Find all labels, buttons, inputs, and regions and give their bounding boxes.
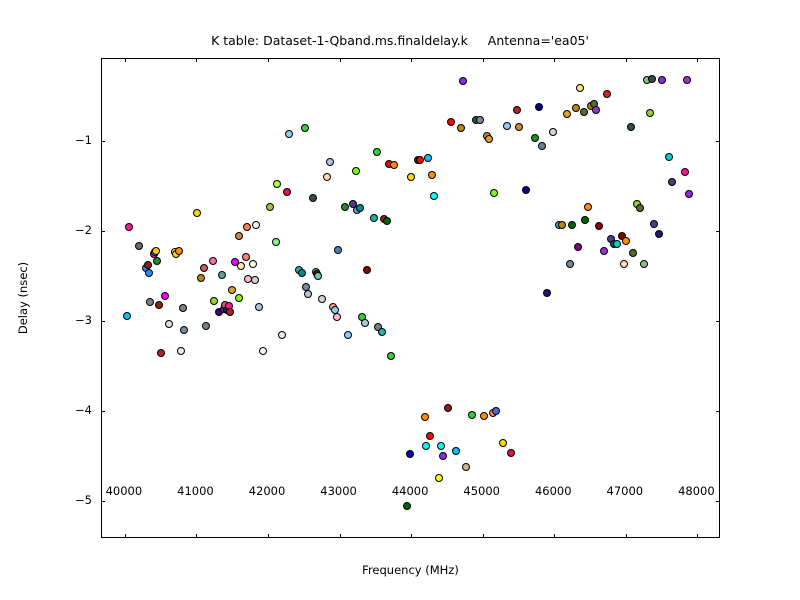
x-tick-mark-top: [483, 58, 484, 62]
scatter-point: [531, 134, 539, 142]
scatter-point: [462, 463, 470, 471]
scatter-point: [535, 103, 543, 111]
y-tick-mark: [101, 141, 105, 142]
x-tick-label: 47000: [607, 484, 644, 498]
scatter-point: [580, 108, 588, 116]
scatter-point: [298, 269, 306, 277]
scatter-point: [383, 217, 391, 225]
y-tick-label: −4: [75, 403, 92, 417]
y-tick-mark: [101, 411, 105, 412]
scatter-point: [243, 223, 251, 231]
y-tick-mark-right: [716, 501, 720, 502]
scatter-point: [636, 204, 644, 212]
plot-axes-area: [101, 58, 720, 538]
scatter-point: [177, 347, 185, 355]
scatter-point: [202, 322, 210, 330]
scatter-point: [152, 247, 160, 255]
scatter-point: [640, 260, 648, 268]
x-tick-mark: [626, 534, 627, 538]
scatter-point: [323, 173, 331, 181]
y-tick-mark-right: [716, 231, 720, 232]
scatter-point: [603, 90, 611, 98]
scatter-point: [237, 262, 245, 270]
x-tick-label: 43000: [320, 484, 357, 498]
x-axis-label: Frequency (MHz): [101, 563, 720, 577]
x-tick-label: 44000: [392, 484, 429, 498]
scatter-point: [266, 203, 274, 211]
x-tick-label: 41000: [177, 484, 214, 498]
x-tick-label: 45000: [463, 484, 500, 498]
scatter-point: [576, 84, 584, 92]
scatter-point: [492, 407, 500, 415]
scatter-point: [681, 168, 689, 176]
scatter-point: [157, 349, 165, 357]
scatter-point: [568, 221, 576, 229]
scatter-point: [285, 130, 293, 138]
scatter-point: [304, 290, 312, 298]
scatter-point: [309, 194, 317, 202]
x-tick-mark: [196, 534, 197, 538]
scatter-point: [165, 320, 173, 328]
scatter-point: [476, 116, 484, 124]
scatter-point: [259, 347, 267, 355]
y-tick-mark: [101, 501, 105, 502]
y-axis-label: Delay (nsec): [16, 262, 30, 334]
scatter-point: [457, 124, 465, 132]
y-tick-label: −5: [75, 493, 92, 507]
scatter-point: [145, 269, 153, 277]
x-tick-mark-top: [697, 58, 698, 62]
scatter-point: [658, 76, 666, 84]
scatter-point: [522, 186, 530, 194]
scatter-point: [499, 439, 507, 447]
scatter-point: [326, 158, 334, 166]
scatter-point: [581, 216, 589, 224]
x-tick-mark: [554, 534, 555, 538]
scatter-point: [595, 222, 603, 230]
x-tick-mark-top: [196, 58, 197, 62]
scatter-point: [373, 148, 381, 156]
x-tick-mark: [411, 534, 412, 538]
scatter-point: [622, 237, 630, 245]
scatter-point: [558, 221, 566, 229]
scatter-point: [249, 260, 257, 268]
chart-title: K table: Dataset-1-Qband.ms.finaldelay.k…: [0, 33, 800, 48]
scatter-point: [255, 303, 263, 311]
scatter-point: [242, 253, 250, 261]
scatter-point: [318, 295, 326, 303]
scatter-point: [235, 294, 243, 302]
scatter-point: [503, 122, 511, 130]
scatter-point: [459, 77, 467, 85]
scatter-point: [209, 257, 217, 265]
scatter-point: [210, 297, 218, 305]
scatter-point: [447, 118, 455, 126]
scatter-point: [613, 240, 621, 248]
scatter-point: [428, 171, 436, 179]
matplotlib-figure: K table: Dataset-1-Qband.ms.finaldelay.k…: [0, 0, 800, 600]
x-tick-mark: [125, 534, 126, 538]
scatter-point: [226, 308, 234, 316]
x-tick-mark-top: [554, 58, 555, 62]
scatter-point: [572, 104, 580, 112]
x-tick-mark-top: [268, 58, 269, 62]
scatter-point: [668, 178, 676, 186]
scatter-point: [272, 238, 280, 246]
scatter-point: [435, 474, 443, 482]
scatter-point: [430, 192, 438, 200]
scatter-point: [422, 442, 430, 450]
scatter-point: [125, 223, 133, 231]
scatter-point: [685, 190, 693, 198]
scatter-point: [352, 167, 360, 175]
y-tick-label: −1: [75, 133, 92, 147]
scatter-point: [341, 203, 349, 211]
scatter-point: [480, 412, 488, 420]
scatter-point: [584, 203, 592, 211]
scatter-point: [403, 502, 411, 510]
scatter-point: [439, 452, 447, 460]
scatter-point: [655, 230, 663, 238]
x-tick-label: 48000: [678, 484, 715, 498]
scatter-point: [153, 257, 161, 265]
x-tick-mark-top: [626, 58, 627, 62]
scatter-point: [344, 331, 352, 339]
x-tick-mark: [268, 534, 269, 538]
scatter-point: [197, 274, 205, 282]
scatter-point: [235, 232, 243, 240]
scatter-point: [175, 247, 183, 255]
scatter-point: [378, 328, 386, 336]
scatter-point: [252, 221, 260, 229]
y-tick-label: −2: [75, 223, 92, 237]
scatter-point: [592, 106, 600, 114]
y-tick-mark-right: [716, 321, 720, 322]
scatter-point: [648, 75, 656, 83]
scatter-point: [407, 173, 415, 181]
x-tick-mark: [340, 534, 341, 538]
scatter-point: [179, 304, 187, 312]
scatter-point: [424, 154, 432, 162]
x-tick-mark: [483, 534, 484, 538]
scatter-point: [421, 413, 429, 421]
y-tick-mark: [101, 321, 105, 322]
y-tick-mark-right: [716, 411, 720, 412]
x-tick-label: 42000: [249, 484, 286, 498]
scatter-point: [543, 289, 551, 297]
y-tick-mark-right: [716, 141, 720, 142]
scatter-point: [406, 450, 414, 458]
x-tick-label: 46000: [535, 484, 572, 498]
scatter-point: [507, 449, 515, 457]
scatter-point: [363, 266, 371, 274]
scatter-point: [426, 432, 434, 440]
scatter-point: [490, 189, 498, 197]
scatter-point: [155, 301, 163, 309]
scatter-point: [193, 209, 201, 217]
scatter-point: [574, 243, 582, 251]
scatter-point: [361, 319, 369, 327]
scatter-point: [228, 286, 236, 294]
scatter-point: [600, 247, 608, 255]
scatter-point: [390, 161, 398, 169]
scatter-point: [515, 123, 523, 131]
scatter-point: [180, 326, 188, 334]
scatter-point: [513, 106, 521, 114]
scatter-point: [314, 272, 322, 280]
scatter-point: [161, 292, 169, 300]
scatter-point: [334, 246, 342, 254]
y-tick-mark: [101, 231, 105, 232]
scatter-point: [273, 180, 281, 188]
x-tick-mark-top: [411, 58, 412, 62]
scatter-point: [146, 298, 154, 306]
scatter-point: [665, 153, 673, 161]
scatter-point: [251, 276, 259, 284]
scatter-point: [563, 110, 571, 118]
scatter-point: [370, 214, 378, 222]
scatter-point: [629, 249, 637, 257]
scatter-point: [468, 411, 476, 419]
scatter-point: [333, 313, 341, 321]
scatter-point: [549, 128, 557, 136]
y-tick-label: −3: [75, 313, 92, 327]
scatter-point: [620, 260, 628, 268]
scatter-point: [566, 260, 574, 268]
scatter-points-layer: [102, 59, 719, 537]
scatter-point: [452, 447, 460, 455]
scatter-point: [283, 188, 291, 196]
scatter-point: [683, 76, 691, 84]
x-tick-mark-top: [340, 58, 341, 62]
scatter-point: [200, 264, 208, 272]
scatter-point: [123, 312, 131, 320]
scatter-point: [437, 442, 445, 450]
scatter-point: [135, 242, 143, 250]
scatter-point: [387, 352, 395, 360]
scatter-point: [485, 135, 493, 143]
scatter-point: [144, 261, 152, 269]
scatter-point: [444, 404, 452, 412]
scatter-point: [627, 123, 635, 131]
scatter-point: [646, 109, 654, 117]
scatter-point: [356, 204, 364, 212]
scatter-point: [538, 142, 546, 150]
x-tick-mark-top: [125, 58, 126, 62]
scatter-point: [218, 271, 226, 279]
scatter-point: [650, 220, 658, 228]
x-tick-mark: [697, 534, 698, 538]
scatter-point: [278, 331, 286, 339]
x-tick-label: 40000: [106, 484, 143, 498]
scatter-point: [301, 124, 309, 132]
